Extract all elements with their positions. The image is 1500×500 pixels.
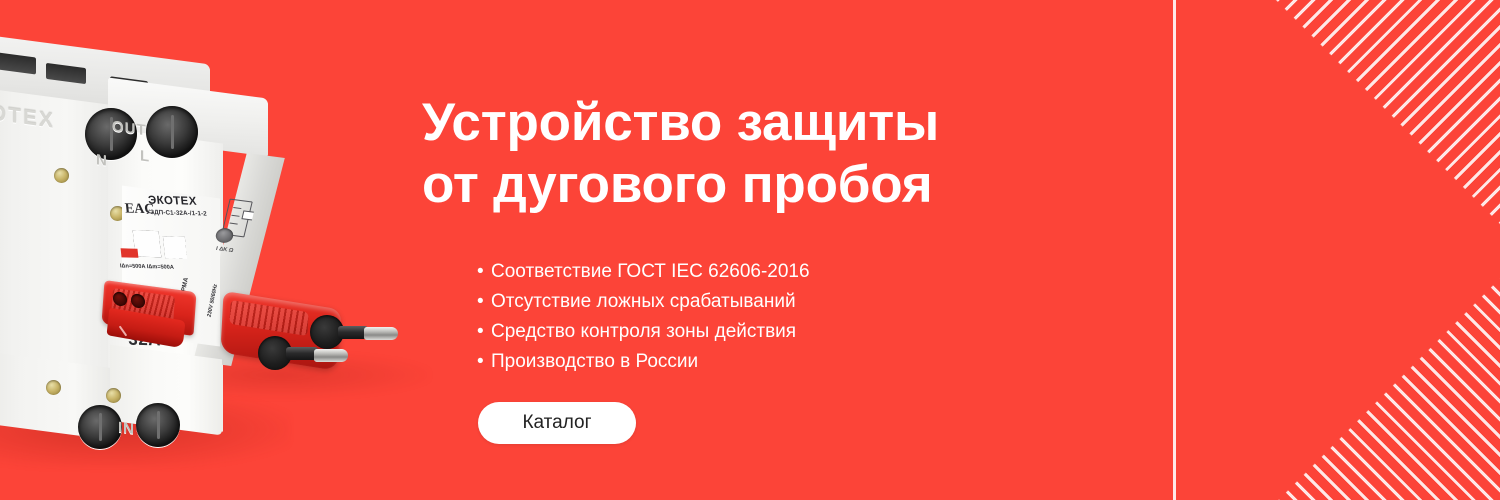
terminal-screw-n <box>146 106 198 158</box>
stripe-mask-top <box>1173 0 1500 247</box>
list-item: Средство контроля зоны действия <box>478 317 810 347</box>
list-item: Соответствие ГОСТ IEC 62606-2016 <box>478 257 810 287</box>
terminal-screw-in-2 <box>136 403 180 447</box>
terminal-screw-in-1 <box>78 405 122 449</box>
catalog-button[interactable]: Каталог <box>478 402 636 444</box>
terminal-label-n: N <box>96 151 108 170</box>
label-ratings: IΔn=500A IΔm=500A <box>120 263 161 272</box>
terminal-label-in: IN <box>118 419 135 438</box>
list-item: Производство в России <box>478 347 810 377</box>
promo-banner: ЭКОТЕХ OUT L N EAC ЭКОТЕХ УЗДП-С1-32А-/1… <box>0 0 1500 500</box>
datamatrix-code-icon <box>163 236 187 259</box>
headline-line-1: Устройство защиты <box>422 92 1042 154</box>
din-slot <box>0 52 36 75</box>
plug-pin-tip-lower <box>314 349 348 362</box>
mounting-screw <box>46 380 61 395</box>
din-slot <box>46 63 86 84</box>
stripe-mask-bottom <box>1173 247 1500 500</box>
terminal-label-l: L <box>140 147 150 165</box>
banner-content: Устройство защиты от дугового пробоя Соо… <box>422 0 1062 500</box>
banner-headline: Устройство защиты от дугового пробоя <box>422 92 1042 216</box>
headline-line-2: от дугового пробоя <box>422 154 1042 216</box>
mounting-screw <box>54 168 69 183</box>
list-item: Отсутствие ложных срабатываний <box>478 287 810 317</box>
chevron-stripe-pattern <box>1173 0 1500 500</box>
product-photo-arc-fault-device: ЭКОТЕХ OUT L N EAC ЭКОТЕХ УЗДП-С1-32А-/1… <box>0 0 420 500</box>
mounting-screw <box>106 388 121 403</box>
label-red-bar <box>121 248 139 258</box>
plug-pin-tip-upper <box>364 327 398 340</box>
feature-list: Соответствие ГОСТ IEC 62606-2016 Отсутст… <box>478 257 810 377</box>
label-brand: ЭКОТЕХ <box>148 194 198 207</box>
pattern-left-edge-line <box>1173 0 1176 500</box>
label-voltage: 230V 50/60Hz <box>207 283 220 318</box>
